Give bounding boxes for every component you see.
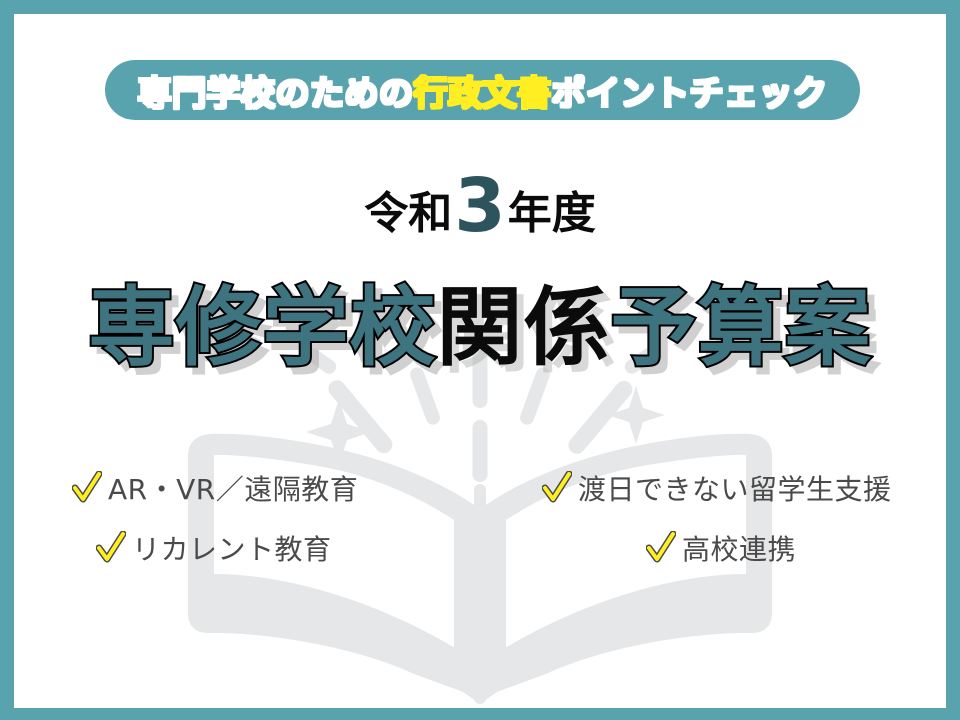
era-suffix: 年度 [508,177,596,241]
page-title: 専修学校関係予算案 [14,257,946,382]
banner-text-after: ポイントチェック [552,66,828,115]
check-icon [646,531,676,565]
slide-inner-canvas: 専門学校のための行政文書ポイントチェック 令和3年度 専修学校関係予算案 AR・… [14,14,946,708]
checklist: AR・VR／遠隔教育 リカレント教育 渡日できない留学生支援 [14,454,946,584]
headline-part-2: 関係 [437,257,611,382]
headline-part-1: 専修学校 [89,257,437,382]
list-item: 渡日できない留学生支援 [542,468,892,508]
era-number: 3 [454,173,506,240]
banner-text-highlight: 行政文書 [414,66,552,115]
list-item-label: 高校連携 [682,528,796,568]
check-icon [72,471,102,505]
banner-title: 専門学校のための行政文書ポイントチェック [105,60,860,120]
list-item-label: 渡日できない留学生支援 [578,468,892,508]
check-icon [542,471,572,505]
headline-part-3: 予算案 [611,257,872,382]
slide-canvas: 専門学校のための行政文書ポイントチェック 令和3年度 専修学校関係予算案 AR・… [0,0,960,720]
banner-text-before: 専門学校のための [138,66,414,115]
check-icon [96,531,126,565]
list-item-label: リカレント教育 [132,528,332,568]
list-item: 高校連携 [646,528,796,568]
banner-pill: 専門学校のための行政文書ポイントチェック [105,60,860,120]
list-item: リカレント教育 [96,528,332,568]
list-item: AR・VR／遠隔教育 [72,468,358,508]
list-item-label: AR・VR／遠隔教育 [108,468,358,508]
era-prefix: 令和 [364,177,452,241]
era-line: 令和3年度 [14,170,946,241]
